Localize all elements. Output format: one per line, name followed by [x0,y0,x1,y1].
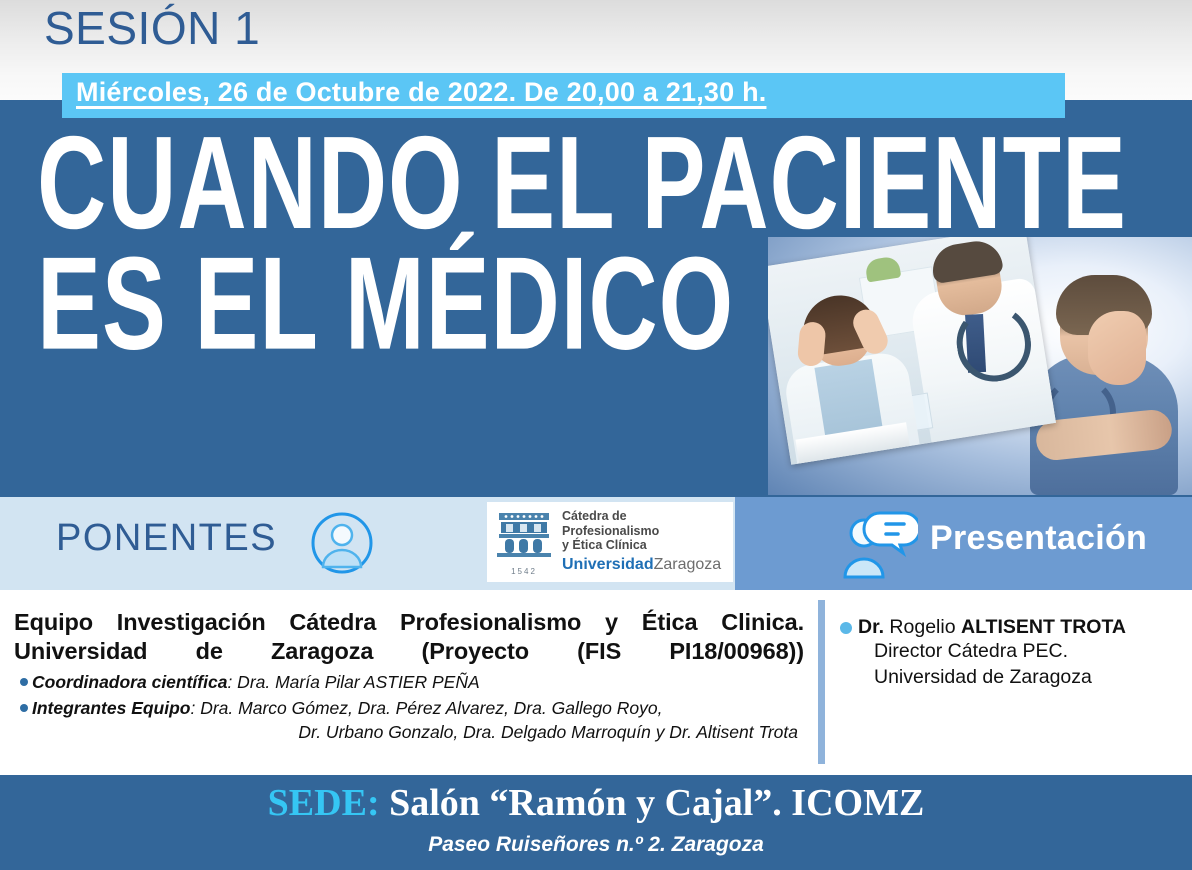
logo-line-2: Profesionalismo [562,524,721,539]
content-area: Equipo Investigación Cátedra Profesional… [0,590,1192,775]
presenter-affiliation: Universidad de Zaragoza [840,665,1180,691]
research-team-heading: Equipo Investigación Cátedra Profesional… [14,608,804,665]
bullet-team-label: Integrantes Equipo [32,698,190,718]
presenter-role: Director Cátedra PEC. [840,639,1180,665]
presenter-last-name: ALTISENT TROTA [961,616,1126,638]
logo-text-block: Cátedra de Profesionalismo y Ética Clíni… [562,509,721,575]
bullet-team-members: Integrantes Equipo: Dra. Marco Gómez, Dr… [32,697,804,721]
research-team-column: Equipo Investigación Cátedra Profesional… [14,608,804,744]
logo-line-3: y Ética Clínica [562,538,721,553]
logo-year: 1542 [493,567,555,576]
ponentes-label: PONENTES [56,517,277,560]
presenter-title: Dr. [858,616,884,638]
column-divider [818,600,825,764]
poster-title: CUANDO EL PACIENTE ES EL MÉDICO [0,130,1192,370]
venue-name: Salón “Ramón y Cajal”. ICOMZ [380,782,925,824]
poster-root: SESIÓN 1 Miércoles, 26 de Octubre de 202… [0,0,1192,870]
date-band: Miércoles, 26 de Octubre de 2022. De 20,… [62,73,1065,118]
venue-line: SEDE: Salón “Ramón y Cajal”. ICOMZ [0,781,1192,825]
presenter-column: Dr. Rogelio ALTISENT TROTA Director Cáte… [840,616,1180,690]
bullet-dot-icon [20,704,28,712]
bullet-coordinator-value: : Dra. María Pilar ASTIER PEÑA [227,672,479,692]
bullet-coordinator-label: Coordinadora científica [32,672,227,692]
logo-universidad-word: Universidad [562,556,654,573]
presentacion-band: Presentación [735,497,1192,590]
bullet-dot-icon [20,678,28,686]
logo-university: UniversidadZaragoza [562,556,721,575]
university-logo: 1542 Cátedra de Profesionalismo y Ética … [487,502,733,582]
university-building-icon: 1542 [493,508,555,576]
presenter-bullet-dot-icon [840,622,852,634]
presenter-name-line: Dr. Rogelio ALTISENT TROTA [840,616,1180,639]
date-text: Miércoles, 26 de Octubre de 2022. De 20,… [76,77,766,108]
bullet-team-continuation: Dr. Urbano Gonzalo, Dra. Delgado Marroqu… [32,721,804,745]
person-speech-bubble-icon [840,507,918,579]
title-line-2: ES EL MÉDICO [37,231,734,370]
presenter-first-name: Rogelio [884,616,961,638]
session-label: SESIÓN 1 [44,4,260,52]
bullet-coordinator: Coordinadora científica: Dra. María Pila… [32,671,804,695]
bullet-team-value: : Dra. Marco Gómez, Dra. Pérez Alvarez, … [190,698,662,718]
research-team-bullets: Coordinadora científica: Dra. María Pila… [14,671,804,744]
venue-address: Paseo Ruiseñores n.º 2. Zaragoza [0,833,1192,857]
logo-line-1: Cátedra de [562,509,721,524]
venue-keyword: SEDE: [268,782,380,824]
presentacion-label: Presentación [930,519,1147,558]
venue-footer: SEDE: Salón “Ramón y Cajal”. ICOMZ Paseo… [0,775,1192,870]
logo-zaragoza-word: Zaragoza [654,556,722,573]
person-circle-icon [310,511,374,575]
